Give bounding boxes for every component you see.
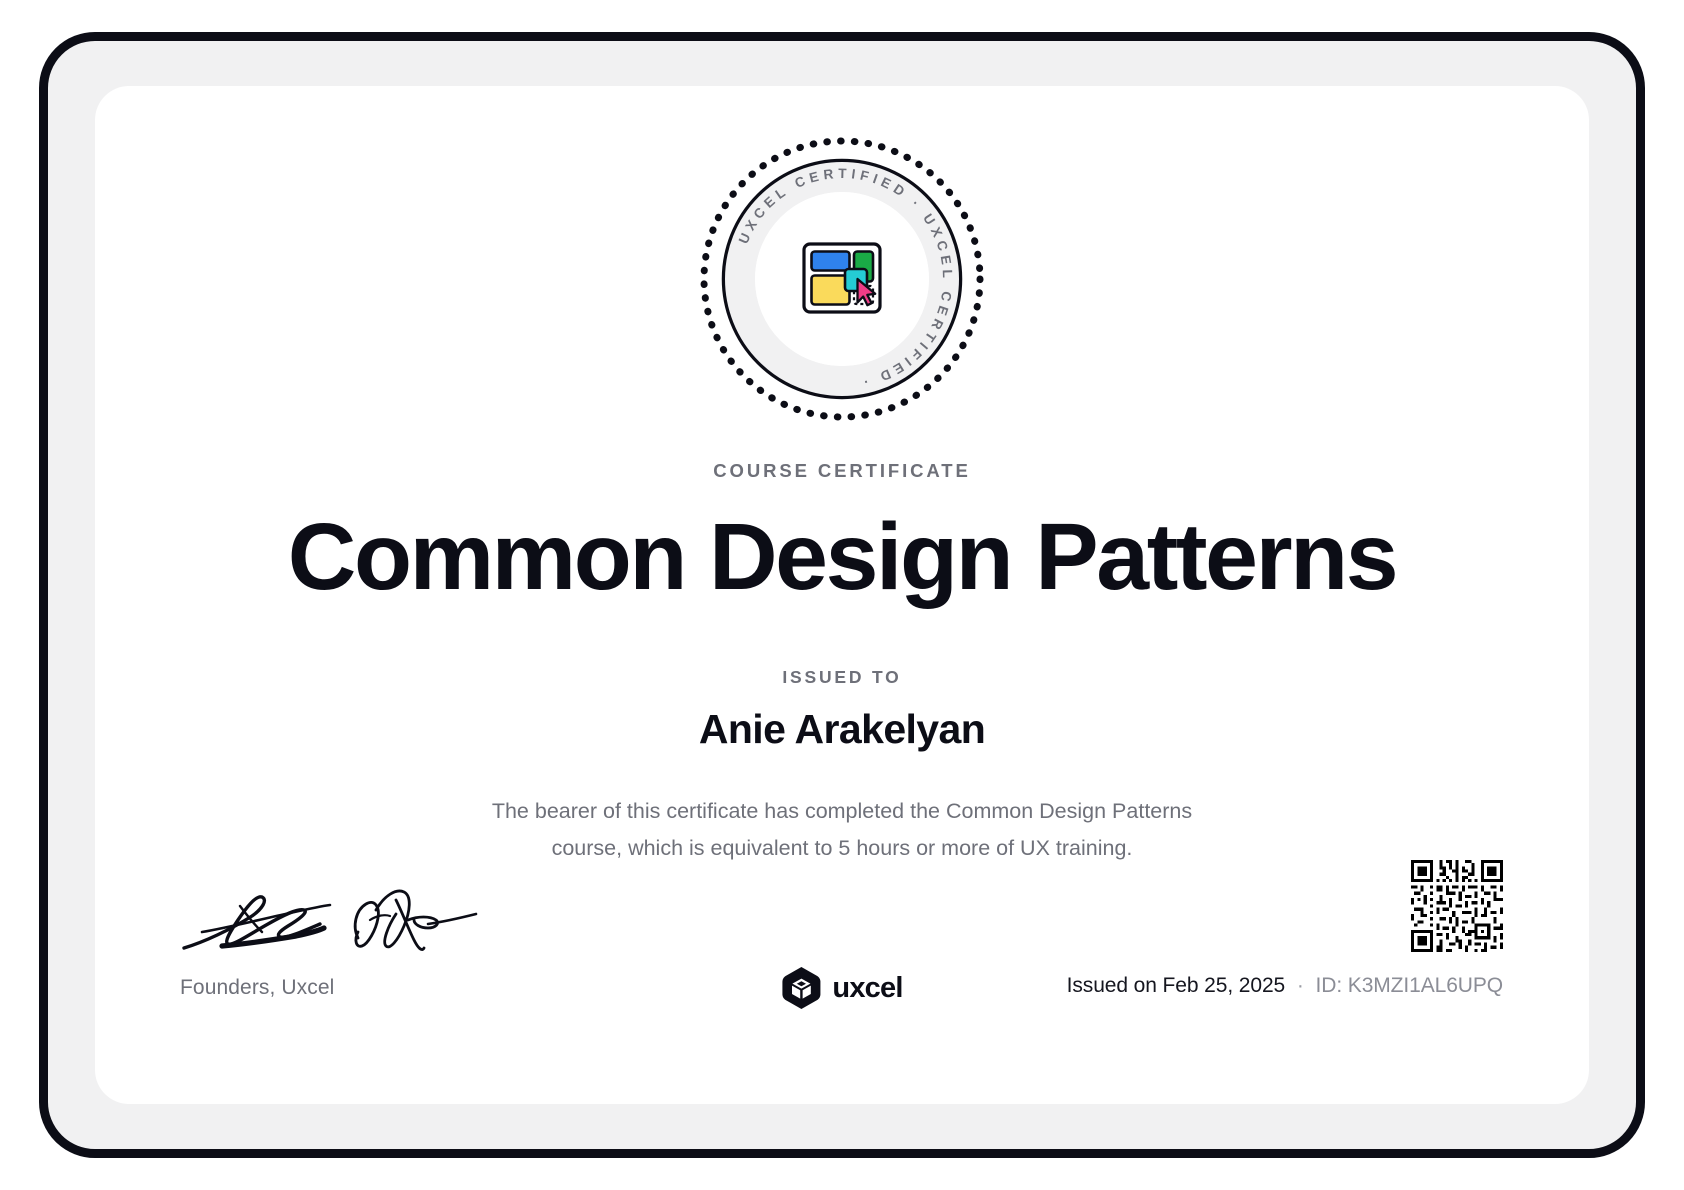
description-line-2: course, which is equivalent to 5 hours o…	[552, 836, 1133, 860]
certificate-description: The bearer of this certificate has compl…	[402, 793, 1282, 867]
uxcel-hexagon-cube-logo	[781, 966, 821, 1010]
issued-to-label: ISSUED TO	[95, 667, 1589, 688]
meta-separator: ·	[1291, 974, 1310, 997]
course-title: Common Design Patterns	[95, 506, 1589, 609]
signature-caption: Founders, Uxcel	[180, 976, 334, 1000]
credential-id: ID: K3MZI1AL6UPQ	[1316, 974, 1503, 997]
signature-two	[355, 891, 476, 950]
certificate-card: UXCEL CERTIFIED · UXCEL CERTIFIED ·	[95, 86, 1589, 1104]
issue-date: Issued on Feb 25, 2025	[1067, 974, 1285, 997]
description-line-1: The bearer of this certificate has compl…	[492, 799, 1192, 823]
signature-one	[184, 897, 330, 948]
uxcel-brand-lockup: uxcel	[781, 966, 902, 1010]
recipient-name: Anie Arakelyan	[95, 706, 1589, 753]
verification-qr-code[interactable]	[1411, 860, 1503, 952]
certificate-eyebrow: COURSE CERTIFICATE	[95, 460, 1589, 482]
design-patterns-layout-icon	[804, 244, 880, 312]
uxcel-wordmark: uxcel	[832, 972, 902, 1005]
issue-metadata: Issued on Feb 25, 2025 · ID: K3MZI1AL6UP…	[1067, 974, 1503, 998]
certificate-frame: UXCEL CERTIFIED · UXCEL CERTIFIED ·	[39, 32, 1645, 1158]
founder-signatures	[180, 886, 480, 966]
certification-seal: UXCEL CERTIFIED · UXCEL CERTIFIED ·	[697, 134, 987, 424]
